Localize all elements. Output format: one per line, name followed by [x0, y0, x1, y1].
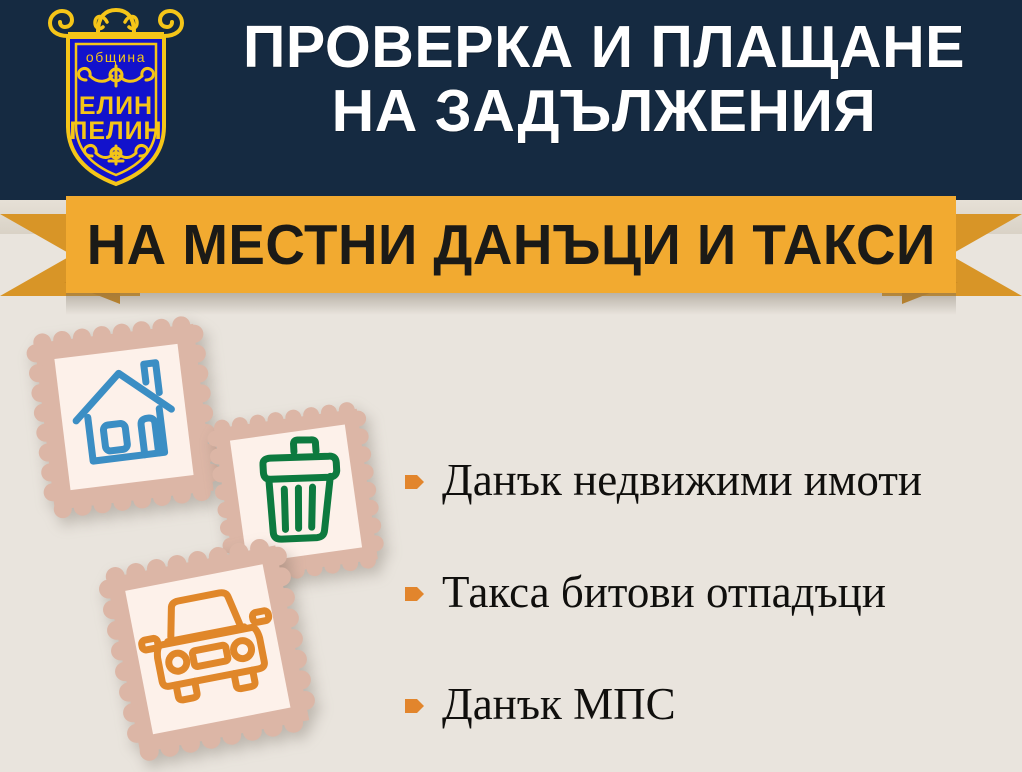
list-item-label: Данък недвижими имоти [442, 458, 922, 503]
ribbon-text: НА МЕСТНИ ДАНЪЦИ И ТАКСИ [86, 212, 935, 278]
crest-top-label: община [86, 49, 146, 65]
arrow-bullet-icon [402, 469, 428, 495]
arrow-bullet-icon [402, 581, 428, 607]
ribbon-band: НА МЕСТНИ ДАНЪЦИ И ТАКСИ [66, 196, 956, 293]
stamp-car [92, 530, 327, 770]
arrow-bullet-icon [402, 693, 428, 719]
page-title-line-2: НА ЗАДЪЛЖЕНИЯ [186, 80, 1022, 144]
list-item-label: Такса битови отпадъци [442, 570, 886, 615]
list-item[interactable]: Данък МПС [402, 648, 1022, 760]
crest-name-line1: ЕЛИН [79, 92, 153, 120]
poster-canvas: община ЕЛИН ПЕЛИН [0, 0, 1022, 772]
municipality-crest-logo: община ЕЛИН ПЕЛИН [46, 6, 186, 189]
list-item-label: Данък МПС [442, 682, 676, 727]
page-title: ПРОВЕРКА И ПЛАЩАНЕ НА ЗАДЪЛЖЕНИЯ [186, 16, 1022, 143]
subtitle-ribbon: НА МЕСТНИ ДАНЪЦИ И ТАКСИ [0, 196, 1022, 306]
list-item[interactable]: Данък недвижими имоти [402, 424, 1022, 536]
page-title-line-1: ПРОВЕРКА И ПЛАЩАНЕ [243, 14, 965, 80]
crest-name-line2: ПЕЛИН [69, 117, 162, 145]
list-item[interactable]: Такса битови отпадъци [402, 536, 1022, 648]
header-content: община ЕЛИН ПЕЛИН [0, 0, 1022, 200]
header-banner: община ЕЛИН ПЕЛИН [0, 0, 1022, 200]
ribbon-shadow [66, 293, 956, 315]
tax-type-list: Данък недвижими имоти Такса битови отпад… [402, 424, 1022, 760]
